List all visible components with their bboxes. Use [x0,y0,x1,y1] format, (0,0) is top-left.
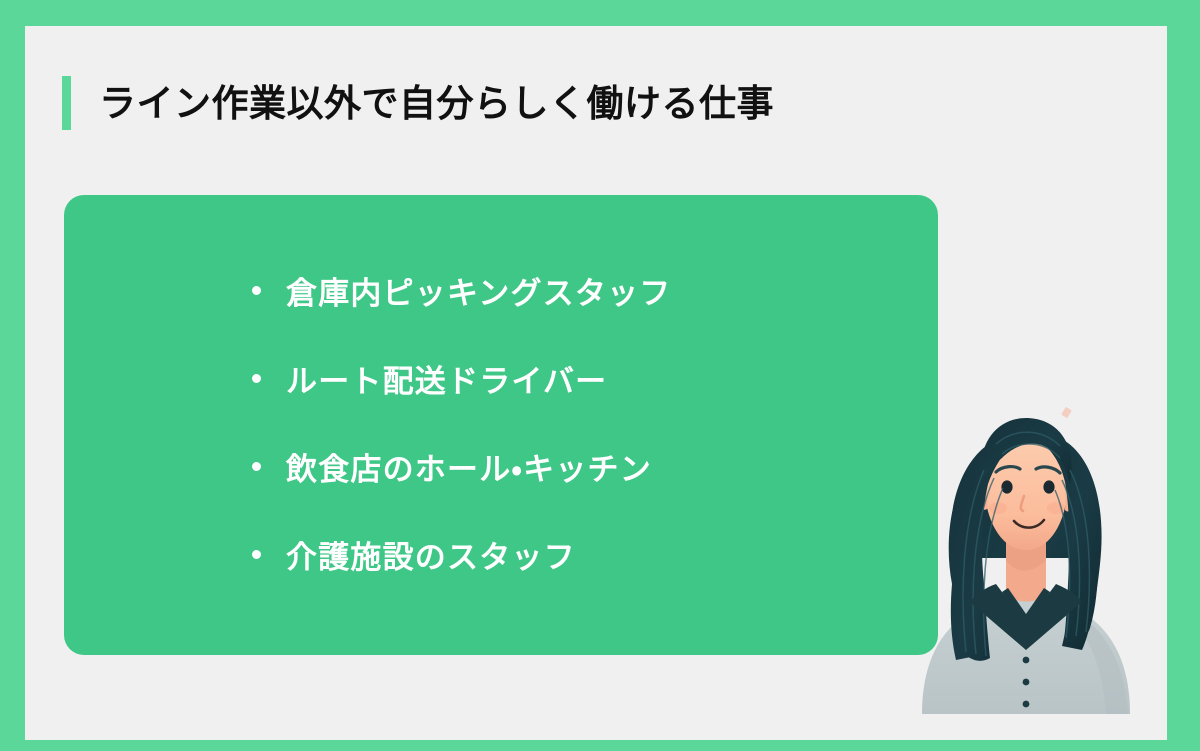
list-item: 飲食店のホール・キッチン [252,422,671,510]
eye-left [1001,480,1012,493]
page-title: ライン作業以外で自分らしく働ける仕事 [62,76,774,130]
woman-portrait-illustration [910,388,1142,714]
list-item-label: 倉庫内ピッキングスタッフ [286,268,671,313]
bullet-dot-icon [252,462,261,471]
list-item: ルート配送ドライバー [252,334,671,422]
frame-border-bottom [0,740,1200,751]
bullet-dot-icon [252,550,261,559]
list-item-label: ルート配送ドライバー [286,356,607,401]
frame-border-top [0,0,1200,26]
list-item: 介護施設のスタッフ [252,510,671,598]
list-item-label: 飲食店のホール・キッチン [286,444,652,489]
eye-right [1043,480,1054,493]
slide-root: ライン作業以外で自分らしく働ける仕事 倉庫内ピッキングスタッフ ルート配送ドライ… [0,0,1200,751]
list-item-label: 介護施設のスタッフ [286,532,576,577]
cheek-left [989,502,1007,514]
job-list-card: 倉庫内ピッキングスタッフ ルート配送ドライバー 飲食店のホール・キッチン 介護施… [64,195,938,655]
bullet-dot-icon [252,286,261,295]
page-title-text: ライン作業以外で自分らしく働ける仕事 [99,85,774,122]
frame-border-left [0,0,25,751]
bullet-dot-icon [252,374,261,383]
frame-border-right [1167,0,1200,751]
list-item: 倉庫内ピッキングスタッフ [252,246,671,334]
job-list: 倉庫内ピッキングスタッフ ルート配送ドライバー 飲食店のホール・キッチン 介護施… [252,246,671,598]
title-accent-bar [62,76,71,130]
